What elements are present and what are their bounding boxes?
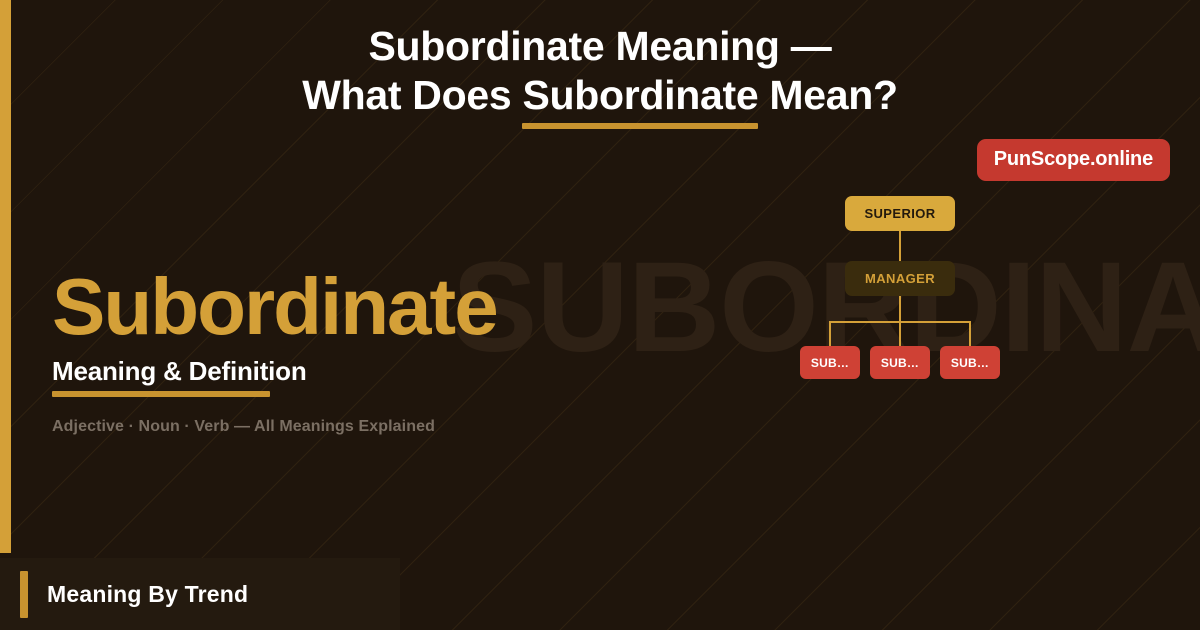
title-keyword-underlined: Subordinate: [522, 71, 758, 120]
connector-manager-to-bus: [899, 296, 901, 322]
connector-drop-sub-1: [829, 321, 831, 346]
org-node-subordinate-2: SUB…: [870, 346, 930, 379]
bottom-brand-bar: Meaning By Trend: [0, 558, 400, 630]
org-node-subordinate-3: SUB…: [940, 346, 1000, 379]
connector-drop-sub-3: [969, 321, 971, 346]
headword: Subordinate: [52, 268, 652, 346]
org-chart-diagram: SUPERIOR MANAGER SUB… SUB… SUB…: [780, 188, 1020, 393]
poster-canvas: SUBORDINA Subordinate Meaning — What Doe…: [0, 0, 1200, 630]
org-node-superior: SUPERIOR: [845, 196, 955, 231]
main-word-block: Subordinate Meaning & Definition Adjecti…: [52, 268, 652, 437]
org-node-subordinate-1: SUB…: [800, 346, 860, 379]
title-line-2: What Does Subordinate Mean?: [0, 71, 1200, 120]
connector-superior-to-manager: [899, 231, 901, 261]
site-badge[interactable]: PunScope.online: [977, 139, 1170, 181]
bottom-bar-accent: [20, 571, 28, 618]
headword-subtitle: Meaning & Definition: [52, 356, 307, 386]
org-node-manager: MANAGER: [845, 261, 955, 296]
connector-drop-sub-2: [899, 321, 901, 346]
title-line-2-prefix: What Does: [302, 72, 522, 118]
title-line-1: Subordinate Meaning —: [0, 22, 1200, 71]
parts-of-speech-line: Adjective · Noun · Verb — All Meanings E…: [52, 417, 652, 437]
title-line-2-suffix: Mean?: [758, 72, 897, 118]
page-title: Subordinate Meaning — What Does Subordin…: [0, 22, 1200, 120]
bottom-bar-label: Meaning By Trend: [47, 581, 248, 608]
